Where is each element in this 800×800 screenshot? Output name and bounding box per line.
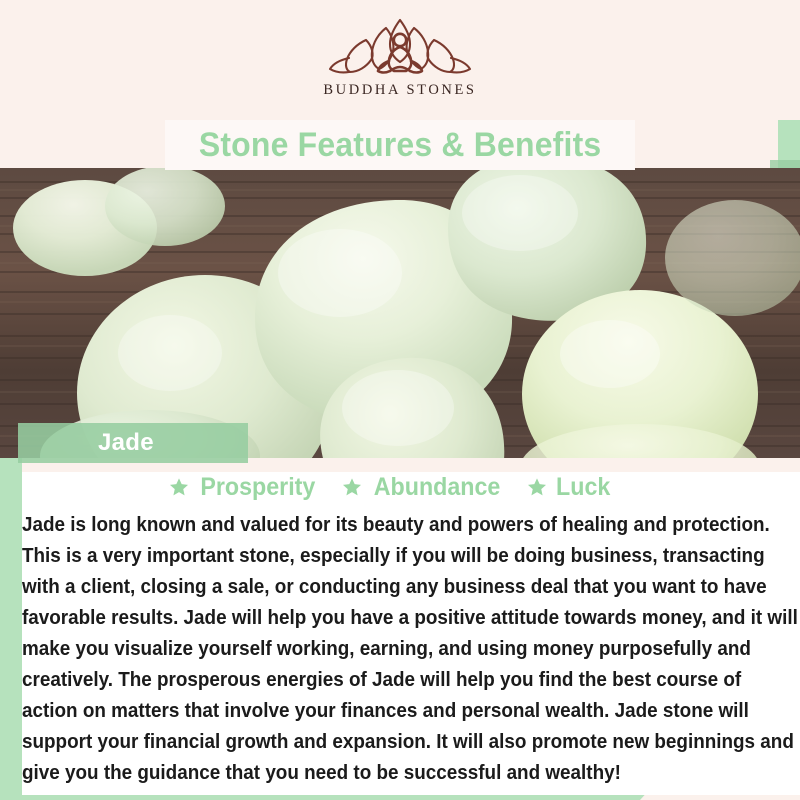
title-banner: Stone Features & Benefits	[165, 120, 635, 170]
description-card: Jade is long known and valued for its be…	[22, 508, 800, 795]
benefit-item: Luck	[527, 473, 612, 502]
jade-stones-photo	[0, 168, 800, 458]
benefit-item: Prosperity	[169, 473, 320, 502]
benefit-label: Prosperity	[201, 473, 316, 502]
star-icon	[342, 477, 362, 497]
content-section: Prosperity Abundance Luck Jade is long k…	[22, 470, 800, 795]
page-title: Stone Features & Benefits	[199, 126, 602, 165]
brand-name: BUDDHA STONES	[323, 82, 476, 99]
hero-image	[0, 168, 800, 458]
star-icon	[169, 477, 189, 497]
stone-label: Jade	[98, 429, 154, 457]
stone-label-band: Jade	[18, 423, 248, 463]
benefit-label: Abundance	[374, 473, 501, 502]
benefit-item: Abundance	[342, 473, 505, 502]
star-icon	[527, 477, 547, 497]
benefits-row: Prosperity Abundance Luck	[22, 470, 800, 504]
description-text: Jade is long known and valued for its be…	[22, 510, 798, 789]
infographic-page: BUDDHA STONES Stone Features & Benefits	[0, 0, 800, 800]
brand-header: BUDDHA STONES	[0, 0, 800, 120]
benefit-label: Luck	[556, 473, 610, 502]
lotus-meditation-icon	[326, 14, 474, 80]
